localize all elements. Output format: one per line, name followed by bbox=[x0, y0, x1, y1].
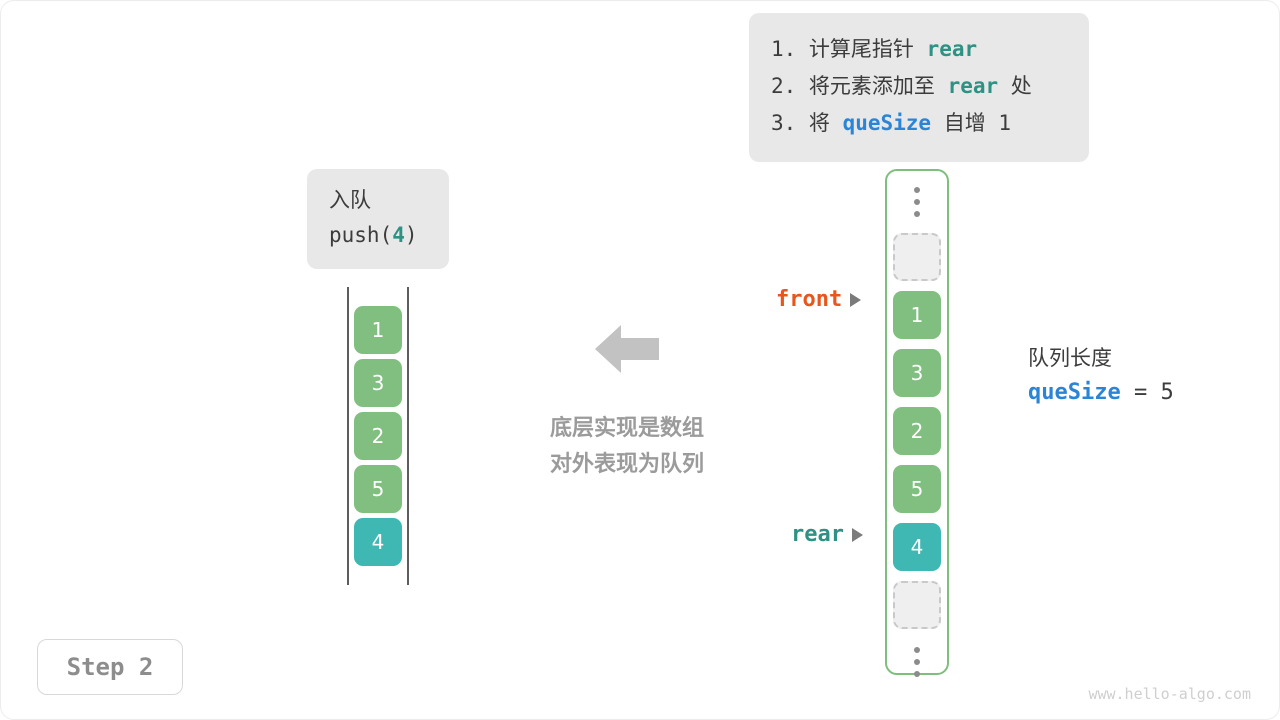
push-call-value: 4 bbox=[392, 223, 405, 247]
front-pointer-label: front bbox=[776, 287, 861, 312]
array-cell bbox=[893, 581, 941, 629]
queue-rail-left bbox=[347, 287, 349, 585]
queue-cell: 3 bbox=[354, 359, 402, 407]
push-call-suffix: ) bbox=[405, 223, 418, 247]
front-pointer-text: front bbox=[776, 287, 842, 312]
step-line-1: 1. 计算尾指针 rear bbox=[771, 31, 1067, 68]
push-operation-panel: 入队 push(4) bbox=[307, 169, 449, 269]
ellipsis-dot bbox=[914, 211, 920, 217]
step-line-2-keyword: rear bbox=[948, 74, 999, 98]
step-line-2-suffix: 处 bbox=[998, 74, 1032, 98]
quesize-annotation: 队列长度 queSize = 5 bbox=[1028, 341, 1174, 411]
quesize-title: 队列长度 bbox=[1028, 341, 1174, 375]
push-panel-call: push(4) bbox=[307, 218, 449, 253]
vertical-ellipsis-icon bbox=[914, 639, 920, 683]
queue-cell: 2 bbox=[354, 412, 402, 460]
array-cell: 4 bbox=[893, 523, 941, 571]
step-line-2-prefix: 2. 将元素添加至 bbox=[771, 74, 948, 98]
left-arrow-icon bbox=[595, 321, 659, 377]
step-line-3: 3. 将 queSize 自增 1 bbox=[771, 105, 1067, 142]
step-badge: Step 2 bbox=[37, 639, 183, 695]
ellipsis-dot bbox=[914, 647, 920, 653]
push-panel-title: 入队 bbox=[307, 183, 449, 218]
rear-pointer-label: rear bbox=[791, 522, 863, 547]
ellipsis-dot bbox=[914, 659, 920, 665]
ellipsis-dot bbox=[914, 671, 920, 677]
ellipsis-dot bbox=[914, 199, 920, 205]
queue-cell: 4 bbox=[354, 518, 402, 566]
quesize-variable-name: queSize bbox=[1028, 380, 1121, 405]
watermark: www.hello-algo.com bbox=[1088, 685, 1251, 703]
steps-panel: 1. 计算尾指针 rear 2. 将元素添加至 rear 处 3. 将 queS… bbox=[749, 13, 1089, 162]
step-line-1-prefix: 1. 计算尾指针 bbox=[771, 37, 927, 61]
push-call-prefix: push( bbox=[329, 223, 392, 247]
array-view: 13254 bbox=[885, 169, 949, 675]
rear-pointer-arrow-icon bbox=[852, 528, 863, 542]
array-cell-list: 13254 bbox=[893, 179, 941, 683]
step-line-3-prefix: 3. 将 bbox=[771, 111, 843, 135]
queue-rail-right bbox=[407, 287, 409, 585]
step-line-2: 2. 将元素添加至 rear 处 bbox=[771, 68, 1067, 105]
step-line-1-keyword: rear bbox=[927, 37, 978, 61]
step-line-3-keyword: queSize bbox=[843, 111, 932, 135]
quesize-operator: = bbox=[1121, 380, 1161, 405]
queue-cell: 1 bbox=[354, 306, 402, 354]
array-cell: 3 bbox=[893, 349, 941, 397]
vertical-ellipsis-icon bbox=[914, 179, 920, 223]
array-cell: 1 bbox=[893, 291, 941, 339]
queue-view: 13254 bbox=[347, 287, 409, 585]
step-line-3-suffix: 自增 1 bbox=[931, 111, 1011, 135]
step-badge-label: Step 2 bbox=[67, 653, 154, 681]
front-pointer-arrow-icon bbox=[850, 293, 861, 307]
diagram-canvas: 1. 计算尾指针 rear 2. 将元素添加至 rear 处 3. 将 queS… bbox=[0, 0, 1280, 720]
array-cell: 2 bbox=[893, 407, 941, 455]
queue-cell-list: 13254 bbox=[354, 306, 402, 566]
array-cell bbox=[893, 233, 941, 281]
flow-caption-line-1: 底层实现是数组 bbox=[499, 411, 755, 447]
flow-caption-line-2: 对外表现为队列 bbox=[499, 447, 755, 483]
rear-pointer-text: rear bbox=[791, 522, 844, 547]
quesize-value: 5 bbox=[1160, 380, 1173, 405]
ellipsis-dot bbox=[914, 187, 920, 193]
queue-cell: 5 bbox=[354, 465, 402, 513]
flow-caption: 底层实现是数组 对外表现为队列 bbox=[499, 411, 755, 483]
quesize-expression: queSize = 5 bbox=[1028, 375, 1174, 411]
array-cell: 5 bbox=[893, 465, 941, 513]
